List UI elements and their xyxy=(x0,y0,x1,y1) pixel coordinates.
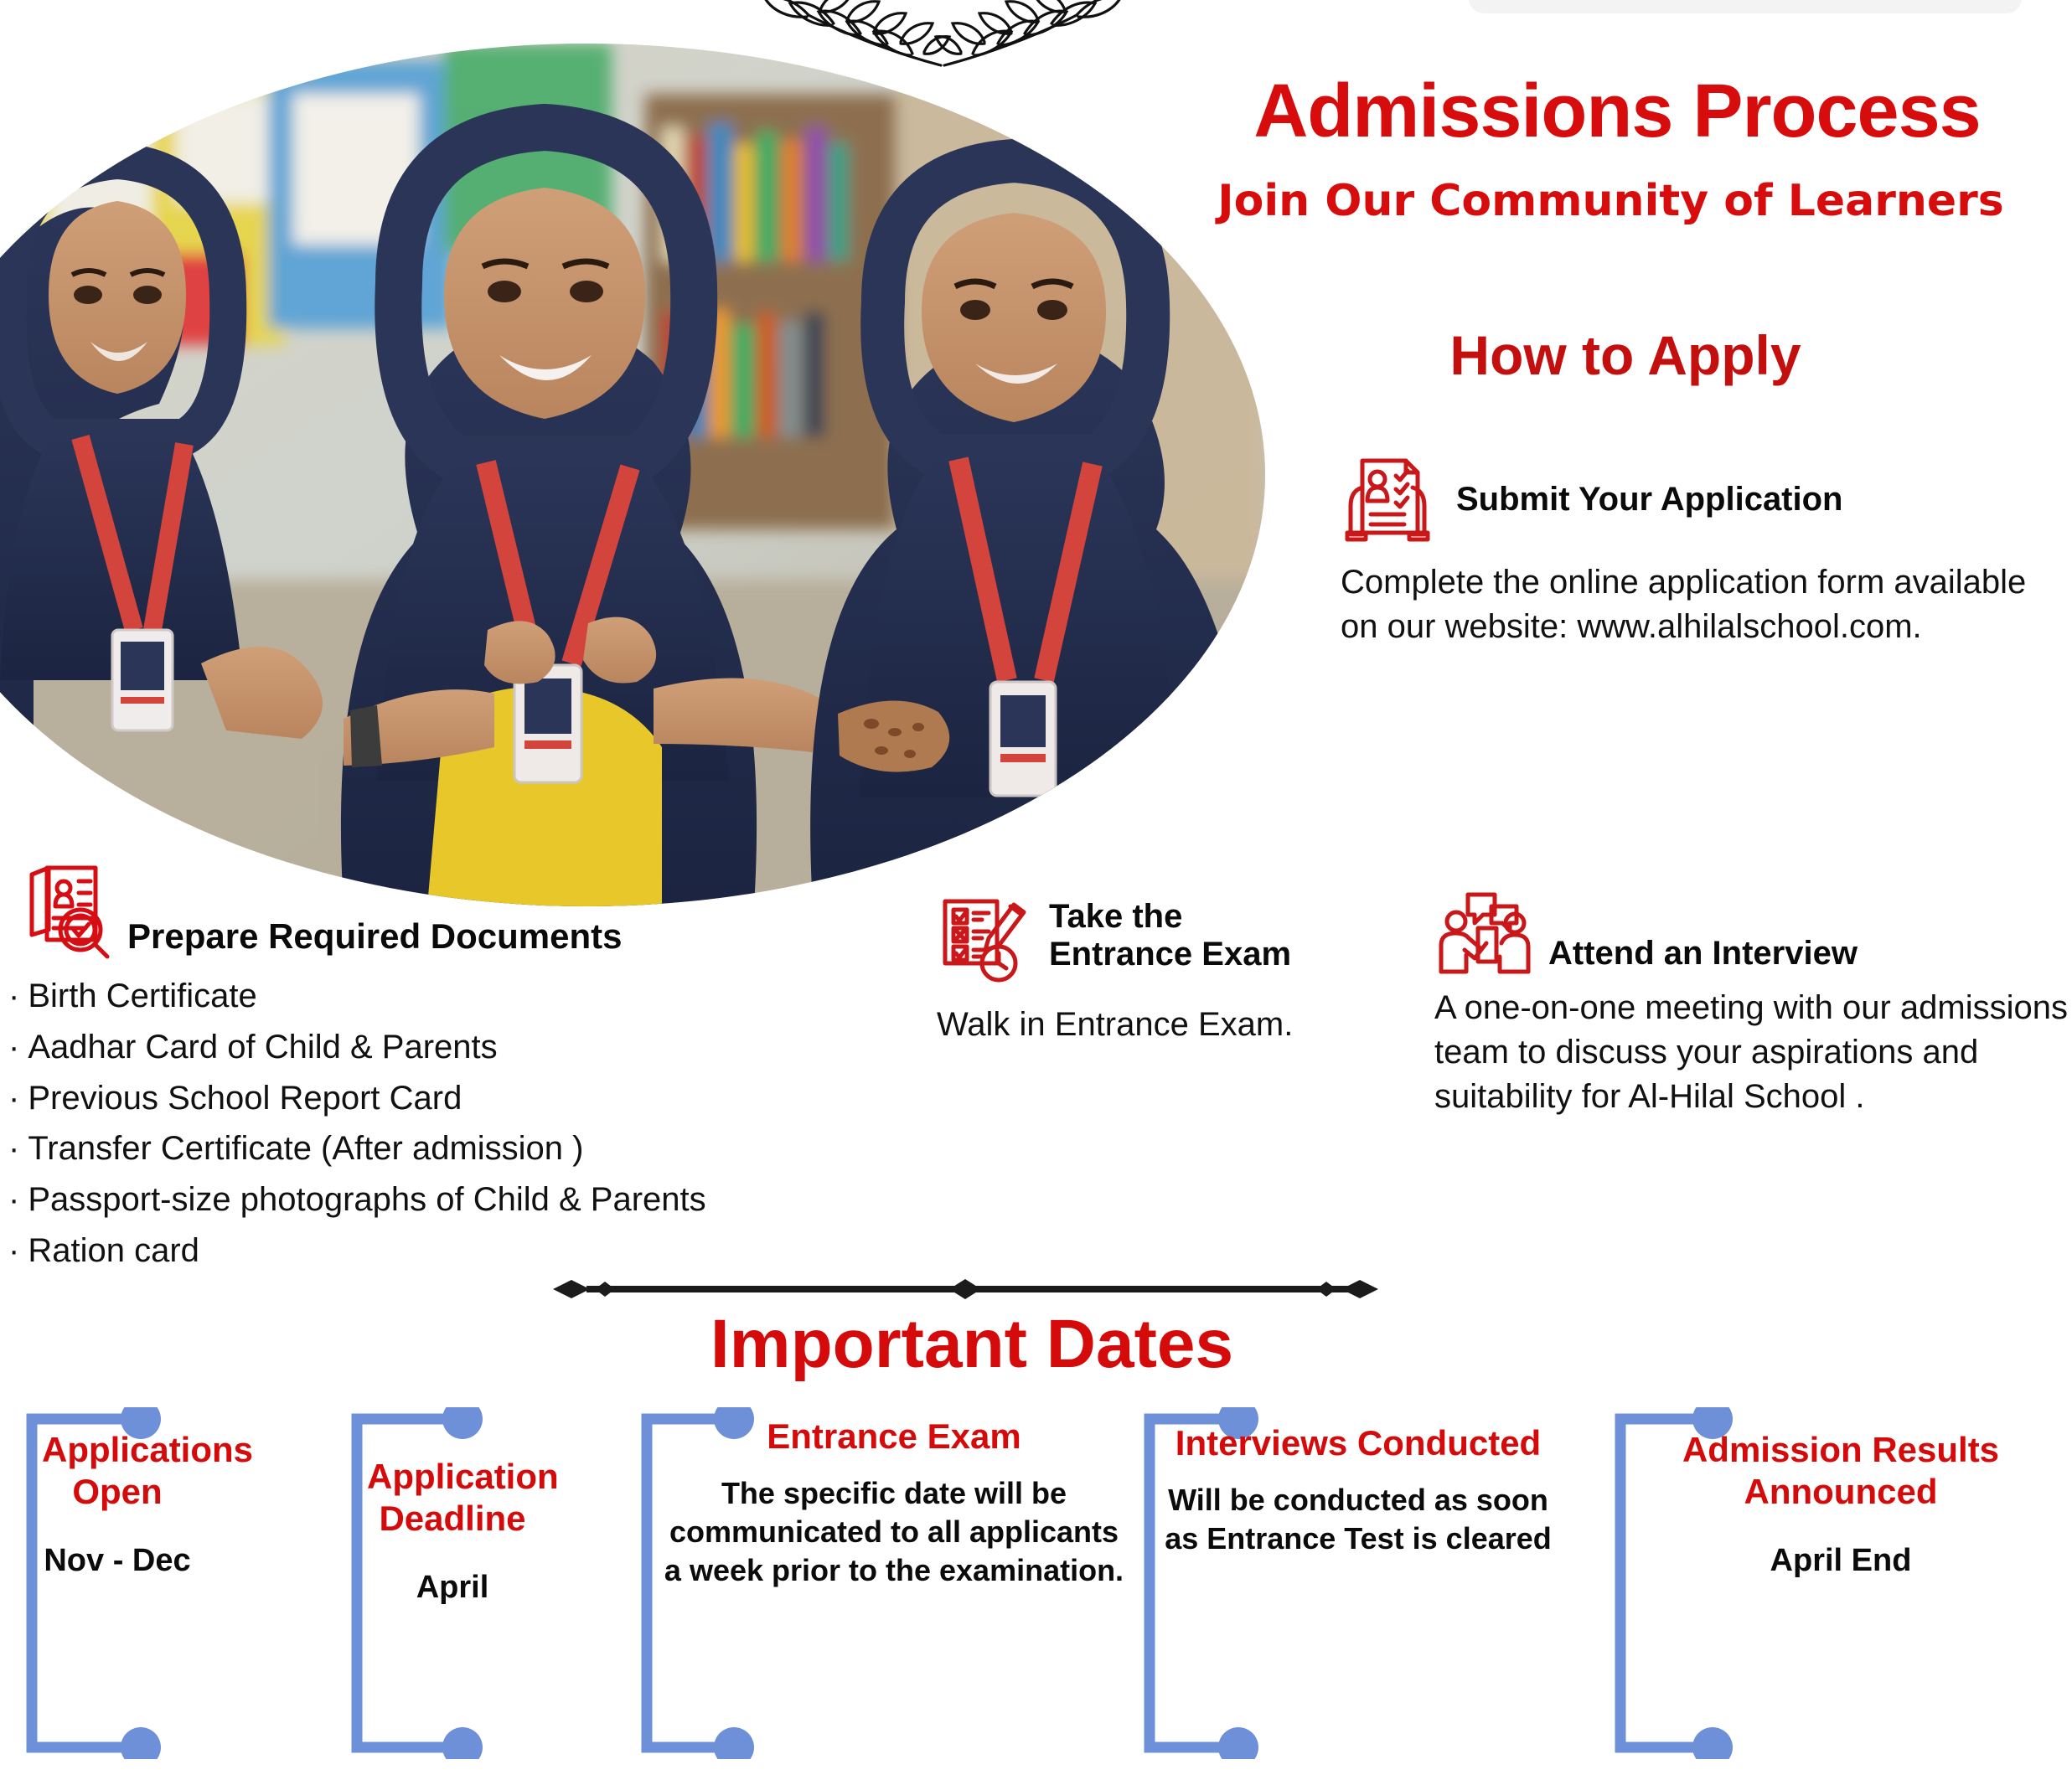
ornament-rule-icon xyxy=(553,1275,1378,1303)
timeline-card-value: April End xyxy=(1634,1540,2048,1581)
important-dates-heading: Important Dates xyxy=(469,1305,1475,1384)
step-submit-application-header: Submit Your Application xyxy=(1341,452,2061,547)
timeline-card-title: Interviews Conducted xyxy=(1155,1422,1562,1464)
corner-decorative-panel xyxy=(1469,0,2022,13)
page-title: Admissions Process xyxy=(1173,74,2061,149)
step-attend-interview-title: Attend an Interview xyxy=(1548,935,1858,973)
timeline-card-interviews-conducted: Interviews Conducted Will be conducted a… xyxy=(1136,1407,1612,1759)
step-attend-interview-header: Attend an Interview xyxy=(1434,891,2071,983)
step-entrance-exam-title: Take the Entrance Exam xyxy=(1049,898,1300,973)
step-entrance-exam-body: Walk in Entrance Exam. xyxy=(937,1003,1423,1047)
how-to-apply-heading: How to Apply xyxy=(1341,323,1910,387)
timeline-card-applications-open: Applications Open Nov - Dec xyxy=(13,1407,198,1759)
timeline-card-value: Will be conducted as soon as Entrance Te… xyxy=(1155,1481,1562,1558)
students-hero-photo xyxy=(0,44,1265,906)
list-item: Transfer Certificate (After admission ) xyxy=(8,1123,913,1174)
step-entrance-exam: Take the Entrance Exam Walk in Entrance … xyxy=(937,895,1423,1047)
step-submit-application-body: Complete the online application form ava… xyxy=(1341,560,2061,649)
checklist-pencil-clock-icon xyxy=(937,895,1031,988)
step-submit-application: Submit Your Application Complete the onl… xyxy=(1341,452,2061,649)
step-prepare-documents: Prepare Required Documents Birth Certifi… xyxy=(8,859,913,1277)
application-document-hands-icon xyxy=(1341,452,1434,547)
step-attend-interview-body: A one-on-one meeting with our admissions… xyxy=(1434,986,2071,1118)
step-submit-application-title: Submit Your Application xyxy=(1456,481,1842,519)
interview-two-people-icon xyxy=(1434,891,1532,983)
list-item: Birth Certificate xyxy=(8,971,913,1022)
timeline-card-admission-results: Admission Results Announced April End xyxy=(1605,1407,2064,1759)
timeline-card-title: Applications Open xyxy=(42,1429,193,1512)
timeline-card-entrance-exam: Entrance Exam The specific date will be … xyxy=(632,1407,1131,1759)
timeline-card-application-deadline: Application Deadline April xyxy=(340,1407,541,1759)
list-item: Ration card xyxy=(8,1225,913,1277)
timeline-card-value: Nov - Dec xyxy=(42,1540,193,1581)
page-subtitle: Join Our Community of Learners xyxy=(1156,176,2065,226)
timeline-card-value: The specific date will be communicated t… xyxy=(662,1474,1126,1590)
list-item: Passport-size photographs of Child & Par… xyxy=(8,1174,913,1225)
important-dates-timeline: Applications Open Nov - Dec Application … xyxy=(0,1407,2072,1767)
list-item: Previous School Report Card xyxy=(8,1073,913,1124)
timeline-card-title: Application Deadline xyxy=(367,1456,538,1539)
step-prepare-documents-header: Prepare Required Documents xyxy=(8,859,913,964)
required-documents-list: Birth Certificate Aadhar Card of Child &… xyxy=(8,971,913,1277)
step-entrance-exam-header: Take the Entrance Exam xyxy=(937,895,1423,988)
documents-verified-search-icon xyxy=(8,859,112,964)
step-attend-interview: Attend an Interview A one-on-one meeting… xyxy=(1434,891,2071,1118)
list-item: Aadhar Card of Child & Parents xyxy=(8,1022,913,1073)
step-prepare-documents-title: Prepare Required Documents xyxy=(127,916,623,956)
timeline-card-value: April xyxy=(367,1567,538,1608)
timeline-card-title: Entrance Exam xyxy=(662,1416,1126,1458)
timeline-card-title: Admission Results Announced xyxy=(1634,1429,2048,1512)
